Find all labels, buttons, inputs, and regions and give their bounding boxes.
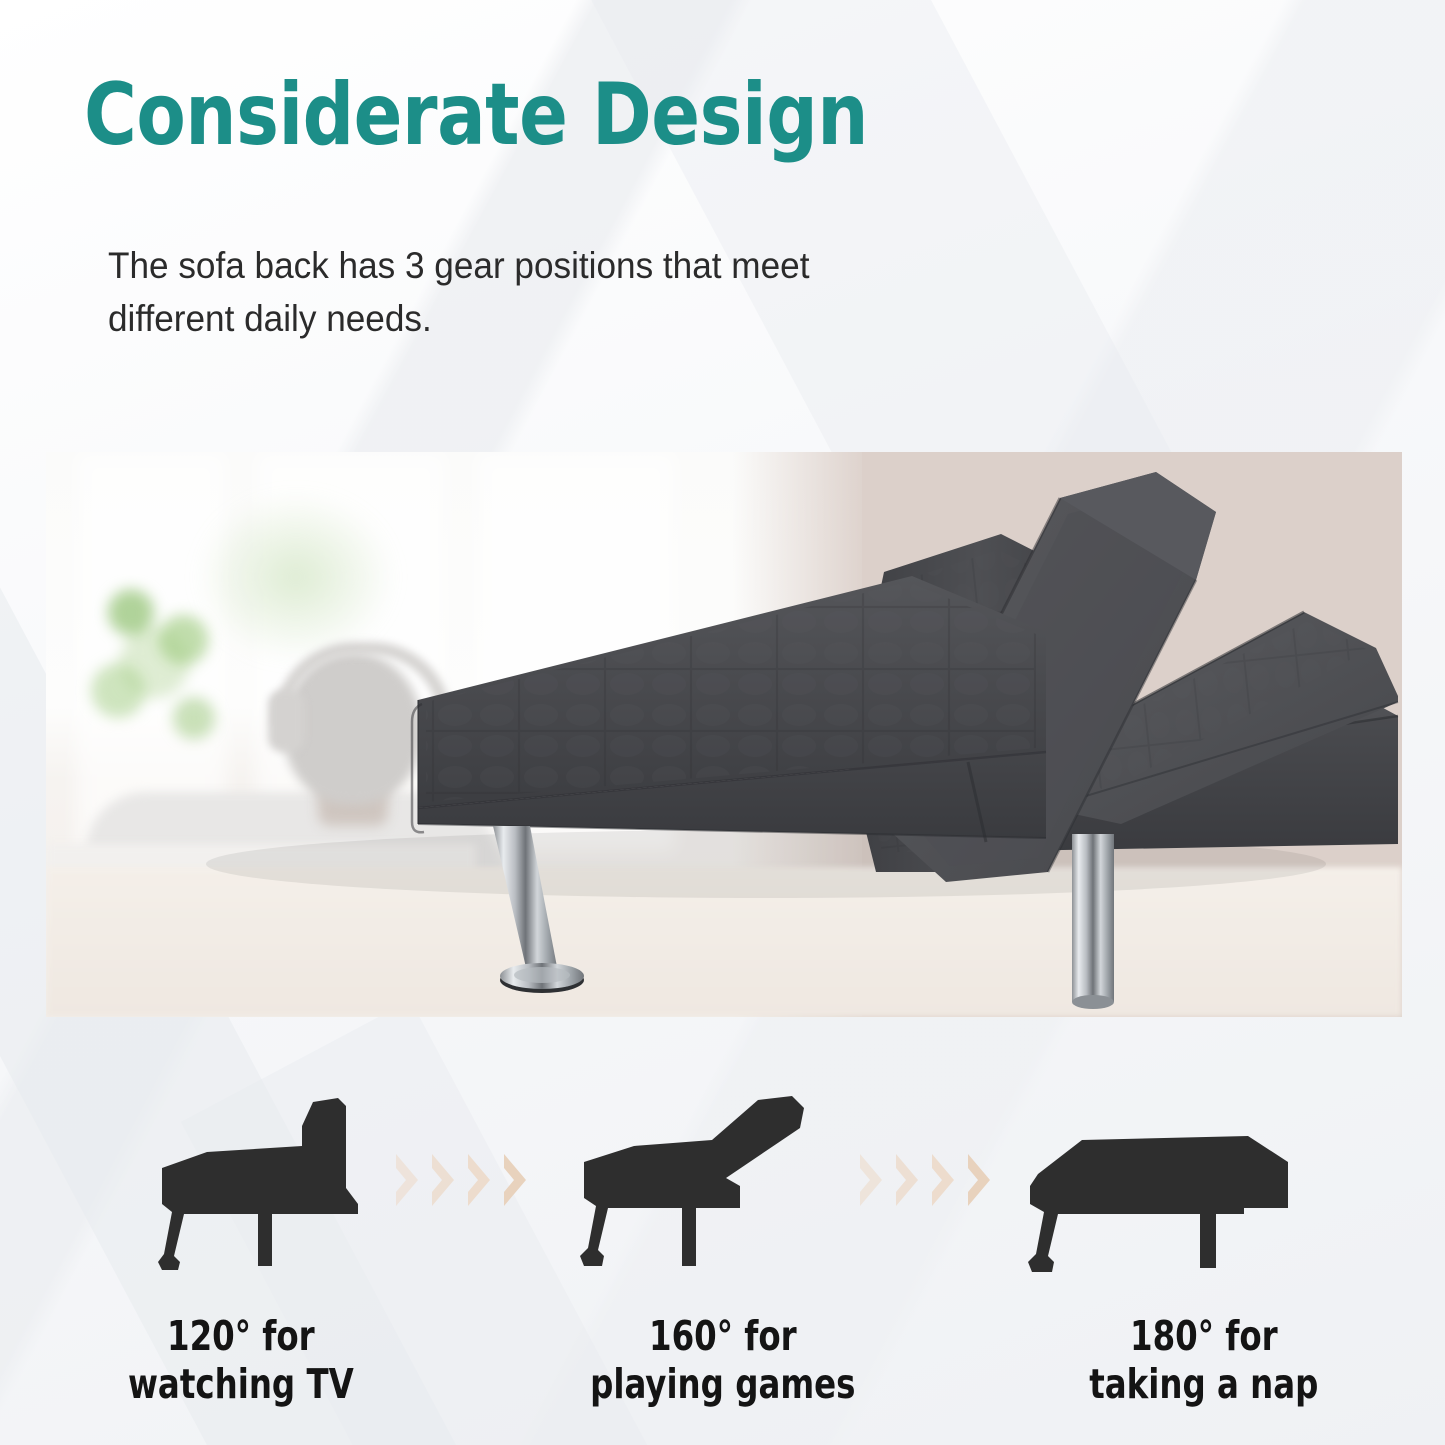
chevron-right-icon [964, 1152, 994, 1208]
page-subtitle: The sofa back has 3 gear positions that … [108, 240, 887, 345]
caption-180-line1: 180° for [992, 1312, 1416, 1360]
caption-120: 120° for watching TV [29, 1312, 453, 1409]
sofa-silhouette-120 [150, 1096, 390, 1286]
arrow-group-1 [392, 1152, 530, 1208]
sofa-silhouette-180 [1020, 1118, 1320, 1283]
chevron-right-icon [856, 1152, 886, 1208]
chrome-rear-leg [1072, 834, 1114, 1009]
chevron-right-icon [464, 1152, 494, 1208]
chevron-right-icon [500, 1152, 530, 1208]
chevron-right-icon [892, 1152, 922, 1208]
caption-180-line2: taking a nap [992, 1360, 1416, 1408]
chevron-right-icon [392, 1152, 422, 1208]
arrow-group-2 [856, 1152, 994, 1208]
sofa-silhouette-160 [568, 1094, 828, 1284]
caption-160: 160° for playing games [511, 1312, 935, 1409]
page-title: Considerate Design [84, 72, 868, 158]
convertible-sofa-graphic [46, 452, 1402, 1017]
infographic-page: Considerate Design The sofa back has 3 g… [0, 0, 1445, 1445]
caption-120-line2: watching TV [29, 1360, 453, 1408]
position-diagram [0, 1078, 1445, 1308]
chevron-right-icon [928, 1152, 958, 1208]
product-photo [46, 452, 1402, 1017]
caption-160-line1: 160° for [511, 1312, 935, 1360]
caption-120-line1: 120° for [29, 1312, 453, 1360]
caption-160-line2: playing games [511, 1360, 935, 1408]
position-captions: 120° for watching TV 160° for playing ga… [0, 1312, 1445, 1409]
caption-180: 180° for taking a nap [992, 1312, 1416, 1409]
chevron-right-icon [428, 1152, 458, 1208]
